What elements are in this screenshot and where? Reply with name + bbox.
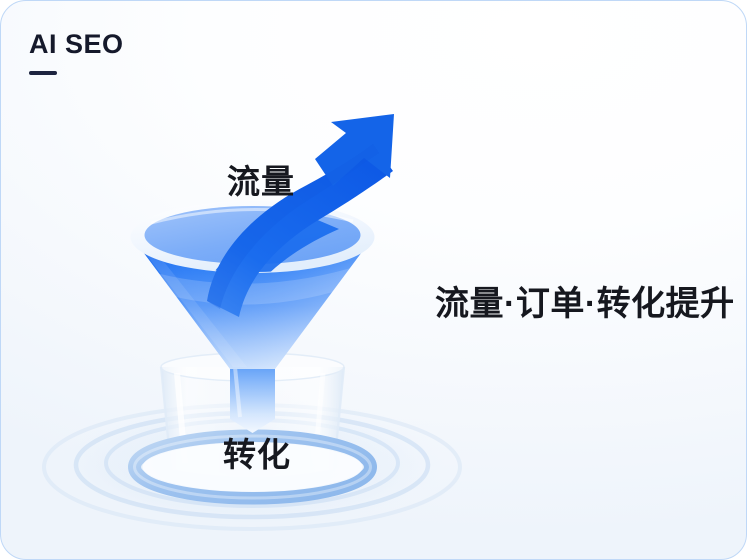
label-traffic: 流量 xyxy=(227,155,295,203)
headline-text: 流量·订单·转化提升 xyxy=(435,276,735,325)
title-underline xyxy=(29,71,57,75)
slide-canvas: AI SEO 流量 转化 流量·订单·转化提升 xyxy=(0,0,747,560)
label-conversion: 转化 xyxy=(223,428,291,476)
header-block: AI SEO xyxy=(29,31,124,75)
page-title: AI SEO xyxy=(29,31,124,58)
